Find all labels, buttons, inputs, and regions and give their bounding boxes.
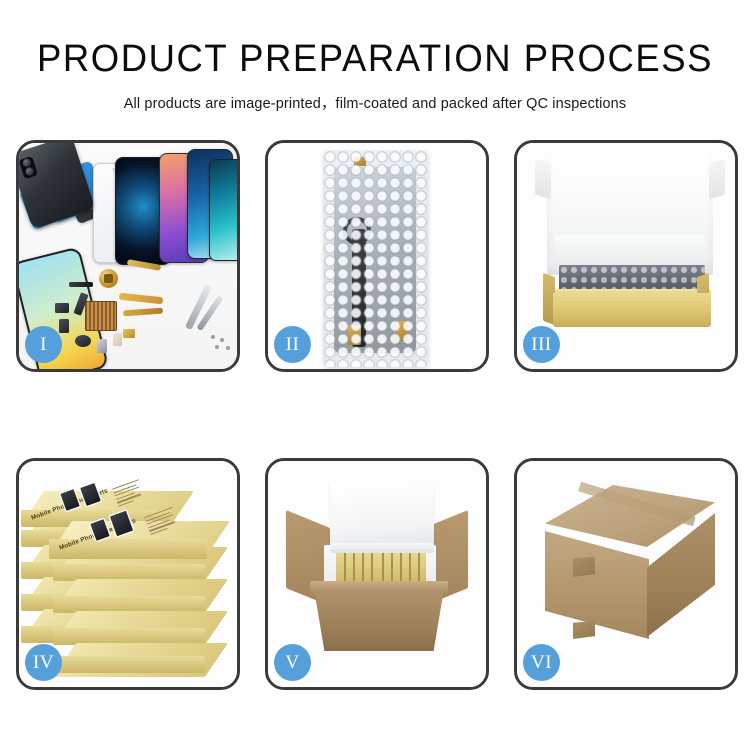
foam-box-lid: [330, 483, 434, 545]
process-step-3[interactable]: III: [514, 140, 738, 372]
camera-lens-module: [19, 156, 38, 179]
phone-teal-display: [209, 159, 237, 261]
process-step-6[interactable]: VI: [514, 458, 738, 690]
carton-front-face: [545, 531, 649, 639]
component-chip-4: [97, 339, 107, 353]
step-badge-2: II: [274, 326, 311, 363]
component-chip-1: [55, 303, 69, 313]
connector-gold-2: [396, 321, 409, 341]
stacked-box-r3: [53, 611, 205, 645]
flex-cable-2: [123, 308, 163, 317]
page-title: PRODUCT PREPARATION PROCESS: [15, 40, 735, 78]
step-badge-6: VI: [523, 644, 560, 681]
screws-group: [211, 335, 233, 353]
carton-body: [314, 589, 444, 651]
process-step-grid: I II: [16, 140, 738, 692]
stacked-box-r4: [53, 643, 205, 673]
tape-strip: [354, 157, 366, 166]
header: PRODUCT PREPARATION PROCESS All products…: [0, 0, 750, 113]
component-chip-7: [123, 329, 135, 338]
process-step-1[interactable]: I: [16, 140, 240, 372]
kraft-box-front: [553, 293, 711, 327]
logic-board-part: [85, 301, 117, 331]
page-subtitle: All products are image-printed，film-coat…: [4, 92, 747, 113]
step-badge-5: V: [274, 644, 311, 681]
vibration-motor-part: [99, 269, 118, 288]
step-badge-1: I: [25, 326, 62, 363]
process-step-4[interactable]: Mobile Phone Spare Parts Mobile Phone Sp…: [16, 458, 240, 690]
component-chip-3: [75, 335, 91, 347]
step-badge-3: III: [523, 326, 560, 363]
process-step-2[interactable]: II: [265, 140, 489, 372]
infographic-page: PRODUCT PREPARATION PROCESS All products…: [0, 0, 750, 750]
stacked-box-r2: [53, 579, 205, 613]
component-chip-5: [113, 333, 122, 346]
bubble-wrap-bag: [324, 151, 428, 367]
carton-flap-tab-top: [573, 557, 595, 577]
foam-box: [324, 483, 436, 587]
flex-cable-1: [119, 293, 163, 305]
step-badge-4: IV: [25, 644, 62, 681]
carton-flap-tab-bottom: [573, 621, 595, 639]
earpiece-speaker-part: [69, 282, 93, 287]
connector-gold-1: [348, 325, 361, 345]
process-step-5[interactable]: V: [265, 458, 489, 690]
yellow-boxes-inside: [336, 549, 426, 583]
component-chip-2: [59, 319, 69, 333]
